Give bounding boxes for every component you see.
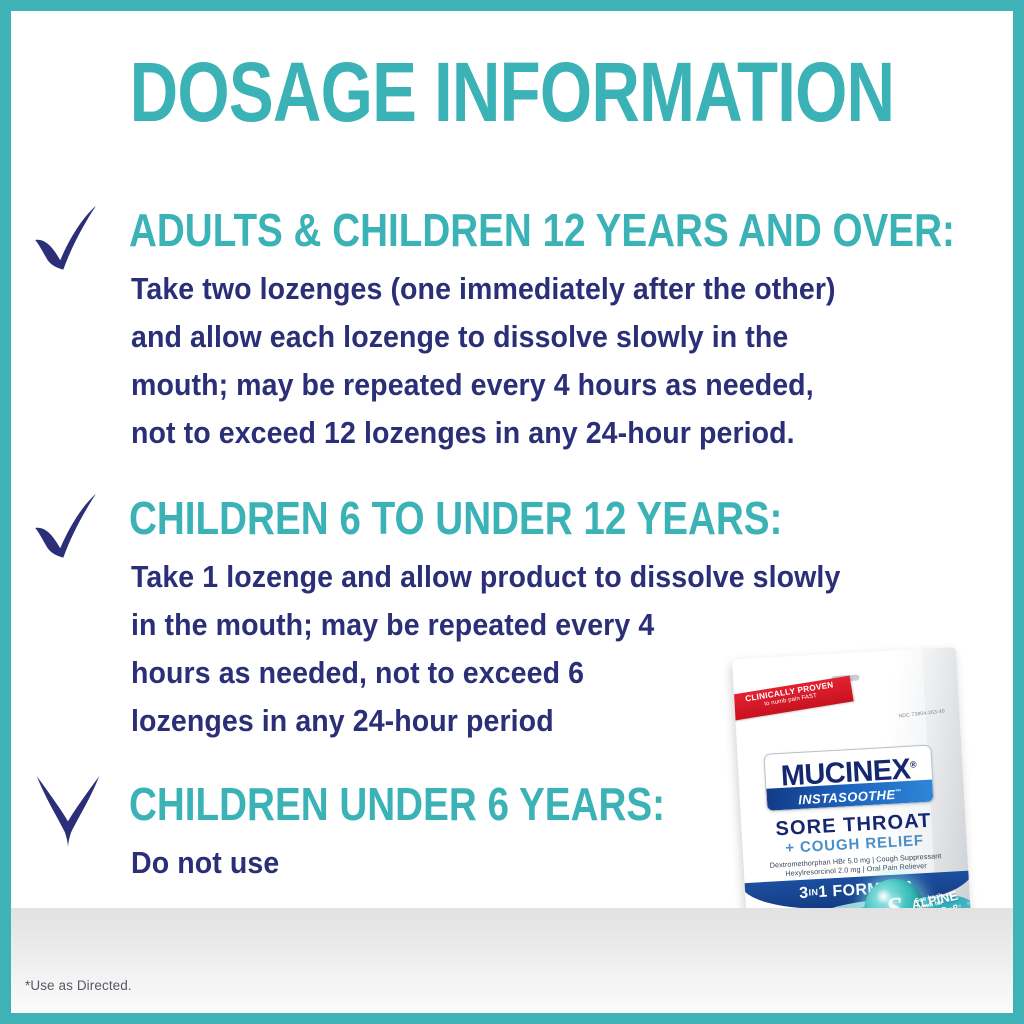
clinically-proven-flash: CLINICALLY PROVEN to numb pain FAST xyxy=(732,676,854,721)
section-body: Do not use xyxy=(131,839,279,887)
body-line: not to exceed 12 lozenges in any 24-hour… xyxy=(131,409,836,457)
section-body: Take two lozenges (one immediately after… xyxy=(131,265,836,457)
sub-brand-text: INSTASOOTHE xyxy=(798,787,896,807)
trademark-mark: ™ xyxy=(895,789,902,795)
x-mark-icon xyxy=(29,773,107,851)
checkmark-icon xyxy=(29,201,107,279)
body-line: Take 1 lozenge and allow product to diss… xyxy=(131,553,840,601)
footnote-text: *Use as Directed. xyxy=(25,978,132,993)
section-heading: CHILDREN 6 TO UNDER 12 YEARS: xyxy=(129,495,782,541)
page-title: DOSAGE INFORMATION xyxy=(111,50,913,134)
checkmark-icon xyxy=(29,489,107,567)
poster-canvas: DOSAGE INFORMATION ADULTS & CHILDREN 12 … xyxy=(0,0,1024,1024)
poster-card: DOSAGE INFORMATION ADULTS & CHILDREN 12 … xyxy=(11,11,1013,1013)
section-heading: ADULTS & CHILDREN 12 YEARS AND OVER: xyxy=(129,207,955,253)
footer-band xyxy=(11,908,1013,1013)
formula-one: 1 xyxy=(818,884,828,901)
body-line: Take two lozenges (one immediately after… xyxy=(131,265,836,313)
mucinex-logo: MUCINEX® INSTASOOTHE™ xyxy=(763,745,934,812)
section-heading: CHILDREN UNDER 6 YEARS: xyxy=(129,781,665,827)
body-line: Do not use xyxy=(131,839,279,887)
body-line: and allow each lozenge to dissolve slowl… xyxy=(131,313,836,361)
formula-in: IN xyxy=(808,887,818,898)
registered-mark: ® xyxy=(910,759,917,769)
body-line: mouth; may be repeated every 4 hours as … xyxy=(131,361,836,409)
